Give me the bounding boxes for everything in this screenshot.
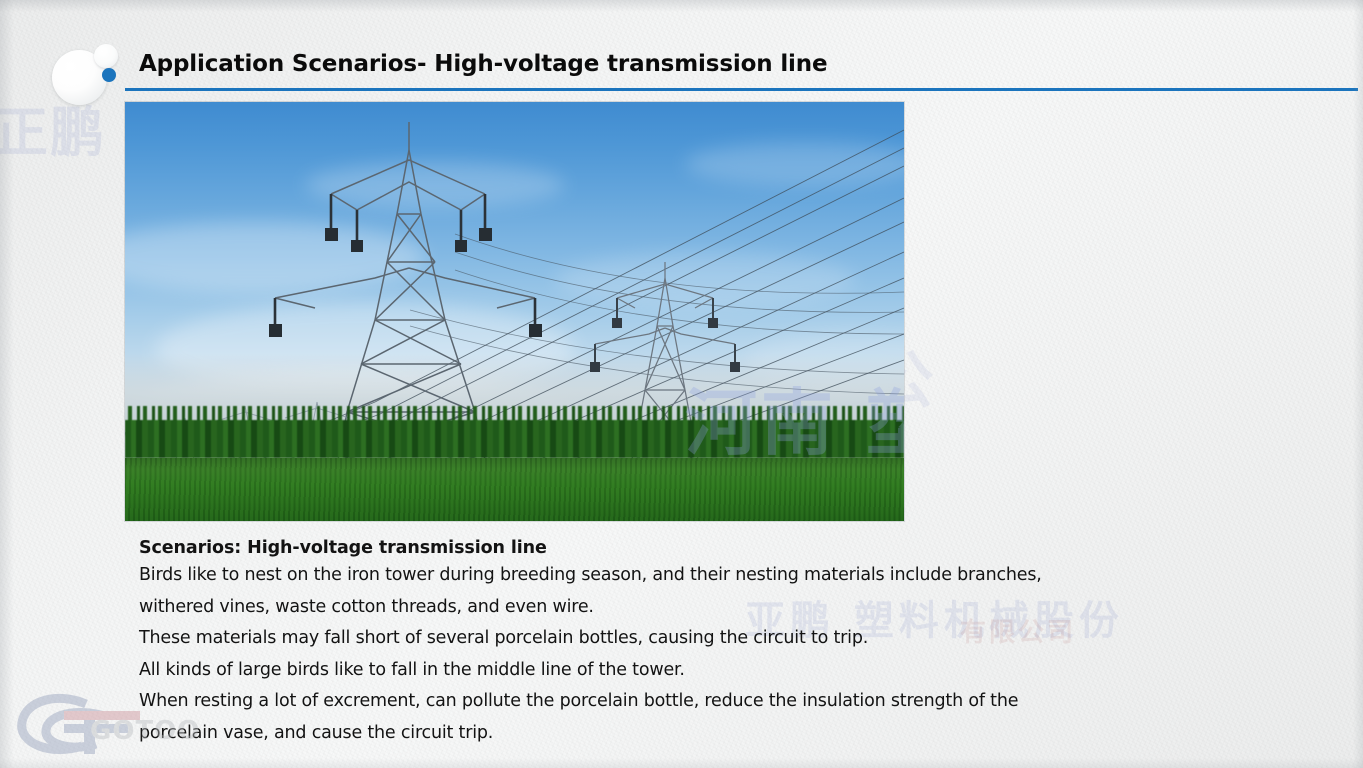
photo-field xyxy=(125,458,904,521)
decorative-small-circle xyxy=(94,44,118,68)
body-line: Birds like to nest on the iron tower dur… xyxy=(139,560,1299,592)
presentation-slide: 正鹏 郝亚鹏 塑料机械展公 亚鹏 塑料机械股份 有限公司 Application… xyxy=(0,0,1363,768)
transmission-line-photo: 河南 塑机 股份 xyxy=(125,102,904,521)
body-line: porcelain vase, and cause the circuit tr… xyxy=(139,718,1299,750)
decorative-blue-dot xyxy=(102,68,116,82)
company-logo: GOTOO xyxy=(8,684,178,762)
body-line: When resting a lot of excrement, can pol… xyxy=(139,686,1299,718)
logo-wordmark: GOTOO xyxy=(90,716,200,746)
body-line: These materials may fall short of severa… xyxy=(139,623,1299,655)
body-text-block: Scenarios: High-voltage transmission lin… xyxy=(139,538,1299,749)
body-line: withered vines, waste cotton threads, an… xyxy=(139,592,1299,624)
photo-tree-line xyxy=(125,420,904,458)
body-heading: Scenarios: High-voltage transmission lin… xyxy=(139,538,1299,558)
page-title: Application Scenarios- High-voltage tran… xyxy=(139,51,827,77)
photo-field-texture xyxy=(125,458,904,521)
title-underline-rule xyxy=(125,88,1358,91)
body-line: All kinds of large birds like to fall in… xyxy=(139,655,1299,687)
